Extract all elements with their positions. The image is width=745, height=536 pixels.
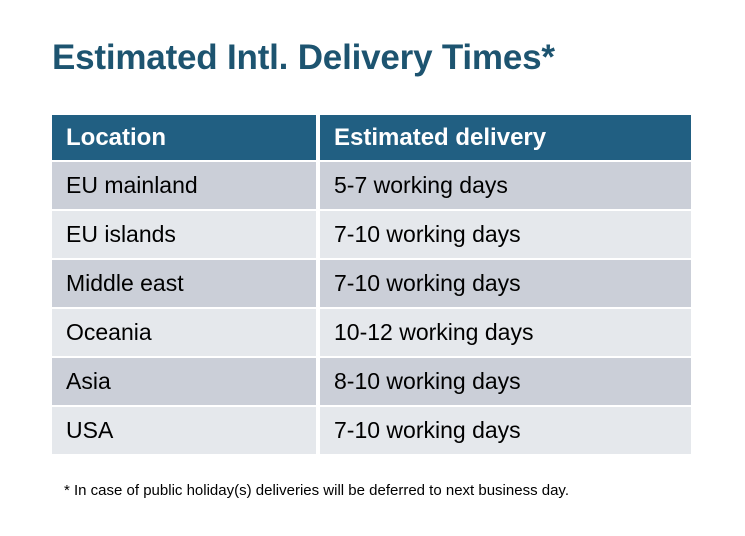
- table-row: Oceania 10-12 working days: [52, 309, 691, 356]
- table-row: EU mainland 5-7 working days: [52, 162, 691, 209]
- table-row: EU islands 7-10 working days: [52, 211, 691, 258]
- column-header-location: Location: [52, 115, 316, 160]
- estimated-delivery-times-table: Location Estimated delivery EU mainland …: [52, 115, 691, 454]
- cell-delivery: 7-10 working days: [320, 211, 691, 258]
- cell-delivery: 5-7 working days: [320, 162, 691, 209]
- cell-location: USA: [52, 407, 316, 454]
- cell-delivery: 10-12 working days: [320, 309, 691, 356]
- cell-location: EU mainland: [52, 162, 316, 209]
- cell-delivery: 7-10 working days: [320, 407, 691, 454]
- table-row: USA 7-10 working days: [52, 407, 691, 454]
- table-row: Middle east 7-10 working days: [52, 260, 691, 307]
- cell-delivery: 7-10 working days: [320, 260, 691, 307]
- cell-delivery: 8-10 working days: [320, 358, 691, 405]
- column-header-estimated-delivery: Estimated delivery: [320, 115, 691, 160]
- table-row: Asia 8-10 working days: [52, 358, 691, 405]
- cell-location: EU islands: [52, 211, 316, 258]
- footnote: * In case of public holiday(s) deliverie…: [64, 481, 569, 501]
- page-title: Estimated Intl. Delivery Times*: [52, 36, 555, 80]
- delivery-times-page: Estimated Intl. Delivery Times* Location…: [0, 0, 745, 536]
- cell-location: Asia: [52, 358, 316, 405]
- table-header-row: Location Estimated delivery: [52, 115, 691, 160]
- cell-location: Oceania: [52, 309, 316, 356]
- cell-location: Middle east: [52, 260, 316, 307]
